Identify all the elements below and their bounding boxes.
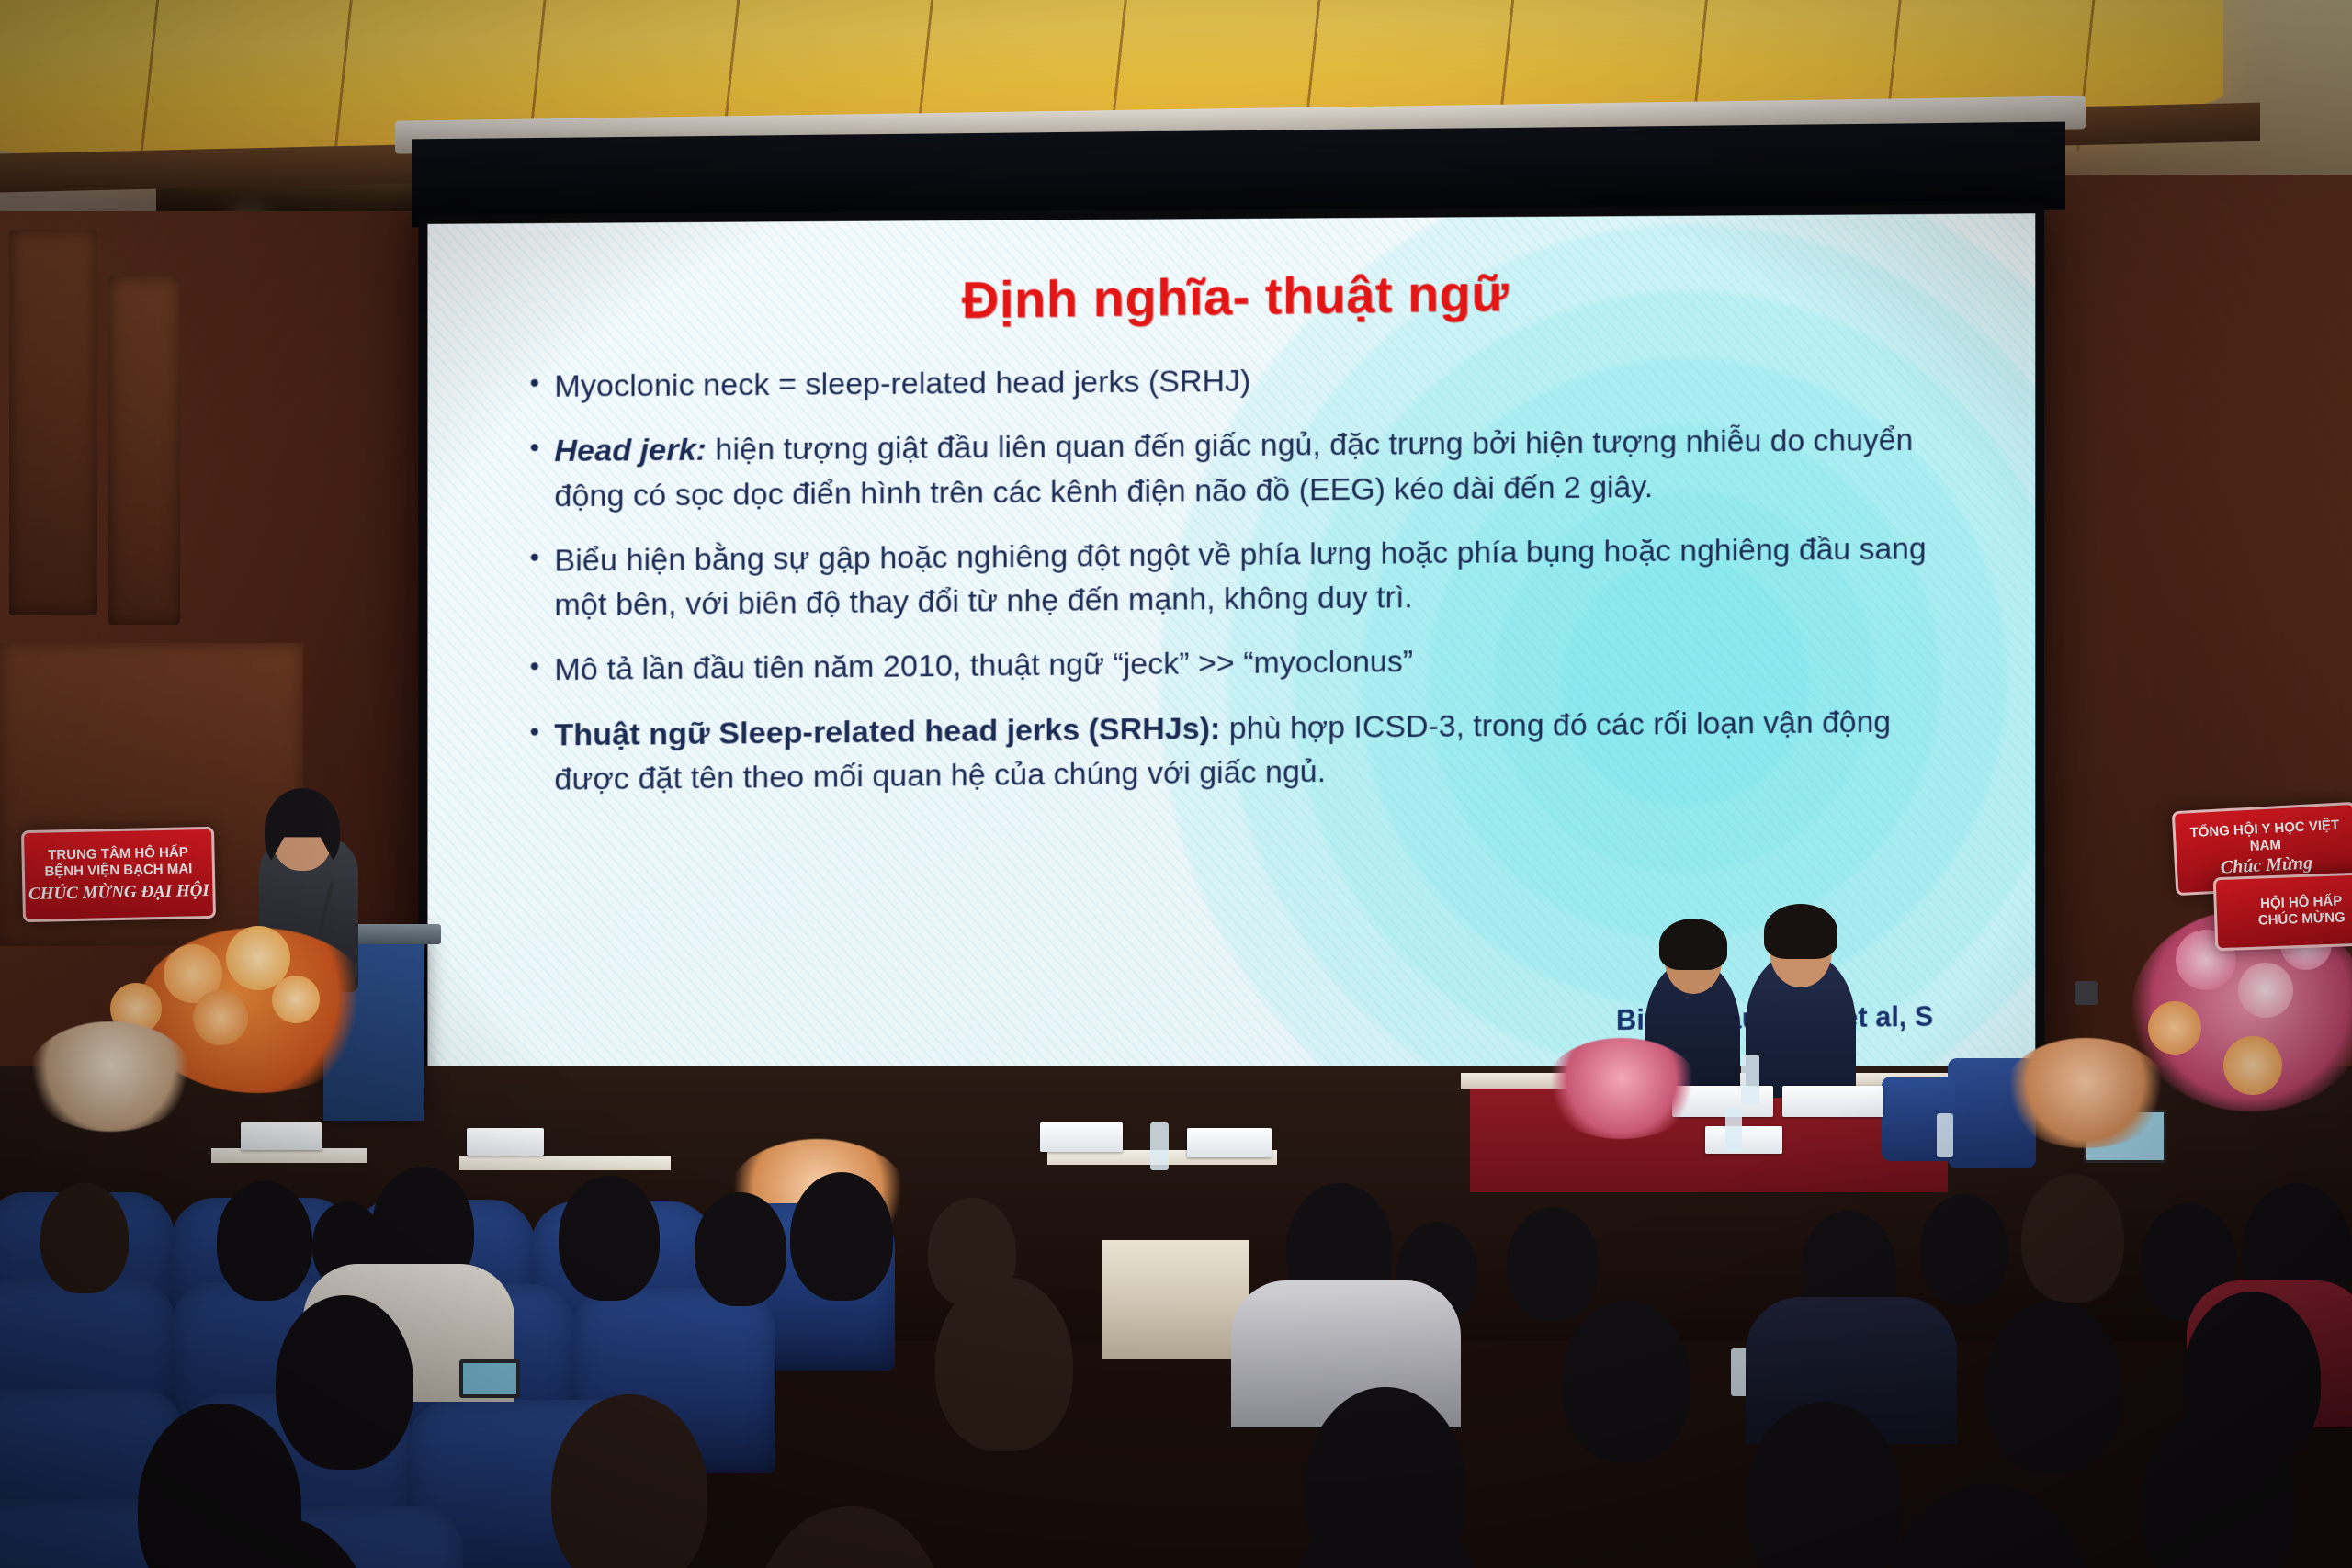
conference-hall-scene: Định nghĩa- thuật ngữ • Myoclonic neck =…: [0, 0, 2352, 1568]
water-bottle: [1725, 1108, 1742, 1152]
water-bottle: [1150, 1122, 1169, 1170]
delegate-table: [211, 1148, 367, 1163]
congrats-banner-left: TRUNG TÂM HÔ HẤP BỆNH VIỆN BẠCH MAI CHÚC…: [21, 827, 216, 922]
bullet-item: • Head jerk: hiện tượng giật đầu liên qu…: [530, 418, 1965, 518]
banner-line-2: BỆNH VIỆN BẠCH MAI: [44, 862, 192, 882]
flower-bloom: [193, 990, 248, 1045]
flower-bloom: [2238, 963, 2293, 1018]
audience-head: [753, 1506, 946, 1568]
delegate-nameplate: [467, 1128, 544, 1156]
slide-title: Định nghĩa- thuật ngữ: [478, 256, 1986, 336]
bullet-marker-icon: •: [530, 538, 540, 577]
bullet-item: • Myoclonic neck = sleep-related head je…: [530, 354, 1965, 409]
flower-bloom: [2148, 1001, 2201, 1055]
audience-head: [790, 1172, 893, 1301]
bullet-marker-icon: •: [530, 429, 540, 468]
audience-head: [276, 1295, 413, 1470]
bullet-item: • Mô tả lần đầu tiên năm 2010, thuật ngữ…: [530, 635, 1965, 693]
bullet-text: Head jerk: hiện tượng giật đầu liên quan…: [554, 418, 1964, 518]
slide-bullet-list: • Myoclonic neck = sleep-related head je…: [478, 354, 1986, 803]
audience-head: [935, 1277, 1073, 1451]
bullet-body: hiện tượng giật đầu liên quan đến giấc n…: [554, 423, 1913, 513]
bullet-text: Mô tả lần đầu tiên năm 2010, thuật ngữ “…: [554, 635, 1964, 693]
audience-head: [2021, 1174, 2124, 1303]
bullet-text: Biểu hiện bằng sự gập hoặc nghiêng đột n…: [554, 526, 1964, 627]
audience-area: [0, 1084, 2352, 1568]
audience-head: [1984, 1301, 2122, 1473]
congrats-banner-right-bottom: HỘI HÔ HẤP CHÚC MỪNG: [2213, 872, 2352, 952]
delegate-nameplate: [1705, 1126, 1782, 1154]
delegate-nameplate: [1187, 1128, 1272, 1157]
stage-speaker-box: [2075, 981, 2098, 1005]
banner-line-1: TỔNG HỘI Y HỌC VIỆT NAM: [2176, 816, 2352, 859]
delegate-nameplate: [1040, 1122, 1123, 1152]
bullet-marker-icon: •: [530, 365, 540, 403]
audience-head: [1920, 1194, 2008, 1304]
delegate-nameplate: [241, 1122, 322, 1150]
bullet-lead-emphasis: Head jerk:: [554, 433, 707, 468]
delegate-table: [1102, 1240, 1249, 1359]
bullet-marker-icon: •: [530, 713, 540, 751]
bullet-marker-icon: •: [530, 648, 540, 686]
panelist-hair: [1659, 919, 1727, 970]
audience-head: [217, 1181, 312, 1301]
bullet-item: • Biểu hiện bằng sự gập hoặc nghiêng đột…: [530, 526, 1965, 628]
water-bottle: [1937, 1113, 1953, 1157]
audience-head: [1882, 1484, 2093, 1568]
banner-line-2: CHÚC MỪNG: [2258, 909, 2346, 930]
attendee-phone-screen: [459, 1359, 520, 1398]
bullet-lead-emphasis: Thuật ngữ Sleep-related head jerks (SRHJ…: [554, 711, 1220, 752]
panelist-hair: [1764, 904, 1837, 959]
audience-head: [40, 1183, 129, 1293]
audience-head: [695, 1192, 786, 1306]
audience-head: [559, 1176, 660, 1301]
audience-head: [1562, 1301, 1690, 1462]
bullet-text: Thuật ngữ Sleep-related head jerks (SRHJ…: [554, 699, 1964, 802]
flower-bloom: [272, 976, 320, 1023]
audience-head: [1507, 1207, 1599, 1321]
banner-line-3: CHÚC MỪNG ĐẠI HỘI: [28, 880, 209, 905]
bullet-item: • Thuật ngữ Sleep-related head jerks (SR…: [530, 699, 1965, 802]
delegate-table: [459, 1156, 671, 1170]
bullet-text: Myoclonic neck = sleep-related head jerk…: [554, 354, 1964, 409]
